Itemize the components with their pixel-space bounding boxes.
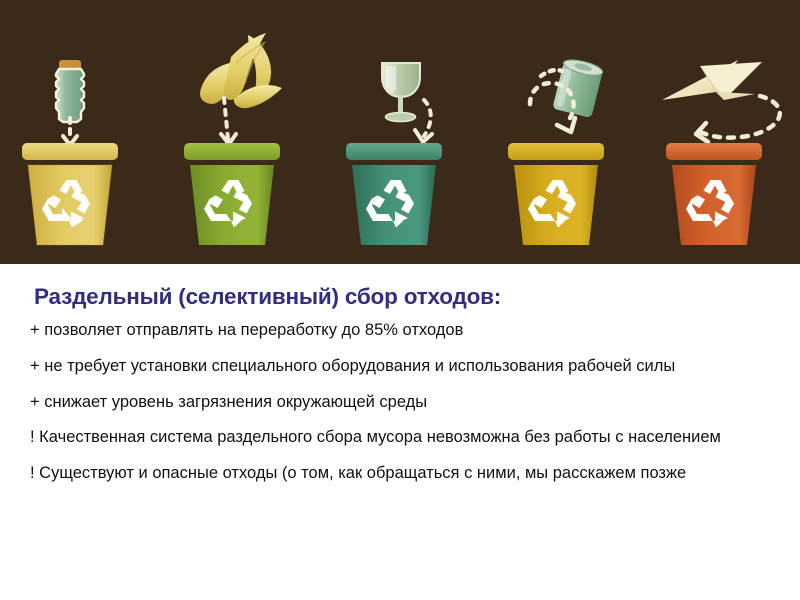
drop-arrow-icon: [415, 100, 432, 142]
list-item: + позволяет отправлять на переработку до…: [30, 320, 742, 342]
bin-group-paper-plane: [662, 60, 780, 245]
page-title: Раздельный (селективный) сбор отходов:: [34, 284, 501, 310]
slide-content: Раздельный (селективный) сбор отходов: +…: [0, 264, 800, 600]
aluminium-can-icon: [552, 57, 604, 118]
bin-group-banana-peel: [184, 33, 282, 245]
bullet-list: + позволяет отправлять на переработку до…: [30, 320, 742, 499]
bin-group-plastic-bottle: [22, 60, 118, 245]
banana-peel-icon: [200, 33, 282, 108]
list-item: ! Качественная система раздельного сбора…: [30, 427, 742, 449]
recycle-bin-yellow: [22, 143, 118, 245]
plastic-bottle-icon: [56, 60, 84, 122]
recycle-bin-teal: [346, 143, 442, 245]
list-item: + не требует установки специального обор…: [30, 356, 742, 378]
wine-glass-icon: [382, 63, 420, 122]
bin-group-aluminium-can: [508, 57, 604, 245]
list-item: ! Существуют и опасные отходы (о том, ка…: [30, 463, 742, 485]
drop-arrow-icon: [221, 98, 236, 144]
paper-plane-icon: [662, 60, 762, 100]
recycle-bin-green: [184, 143, 280, 245]
bin-group-wine-glass: [346, 63, 442, 245]
list-item: + снижает уровень загрязнения окружающей…: [30, 392, 742, 414]
drop-arrow-icon: [696, 96, 780, 142]
recycle-bin-orange: [666, 143, 762, 245]
illustration-canvas: [0, 0, 800, 264]
slide-page: Раздельный (селективный) сбор отходов: +…: [0, 0, 800, 600]
recycling-bins-illustration: [0, 0, 800, 264]
recycle-bin-gold: [508, 143, 604, 245]
